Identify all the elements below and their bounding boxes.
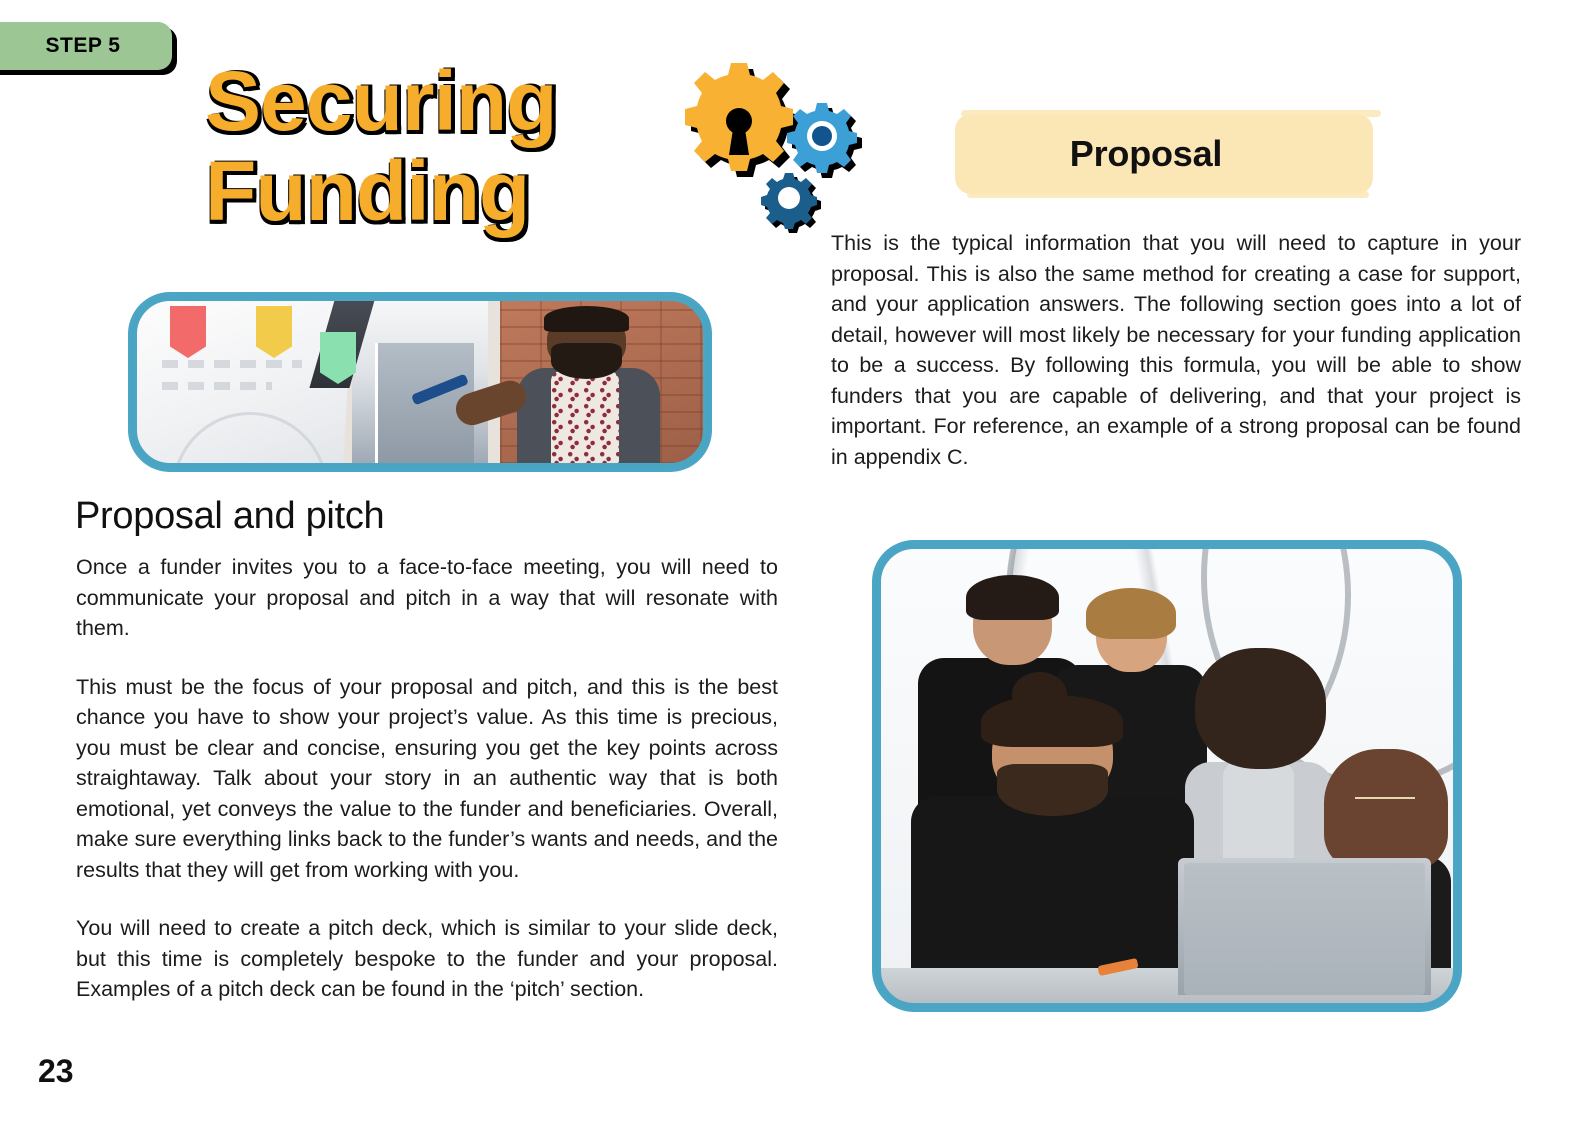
left-column-body: Once a funder invites you to a face-to-f… xyxy=(76,552,778,1005)
gears-illustration xyxy=(645,55,880,255)
page-title: Securing Funding xyxy=(205,62,635,232)
person-front-bun xyxy=(926,685,1179,1004)
intro-paragraph: This is the typical information that you… xyxy=(831,228,1521,472)
body-paragraph-2: This must be the focus of your proposal … xyxy=(76,672,778,886)
whiteboard-writing xyxy=(162,360,302,368)
whiteboard-photo xyxy=(128,292,712,472)
body-paragraph-1: Once a funder invites you to a face-to-f… xyxy=(76,552,778,644)
team-photo xyxy=(872,540,1462,1012)
laptop xyxy=(1178,858,1431,995)
presenter-person xyxy=(500,303,670,464)
whiteboard-photo-image xyxy=(136,300,704,464)
body-paragraph-3: You will need to create a pitch deck, wh… xyxy=(76,913,778,1005)
page-number: 23 xyxy=(38,1053,74,1090)
team-photo-image xyxy=(880,548,1454,1004)
page-title-line-1: Securing xyxy=(205,62,635,142)
proposal-banner-label: Proposal xyxy=(1070,133,1222,175)
section-heading: Proposal and pitch xyxy=(75,495,384,538)
whiteboard-writing xyxy=(162,382,272,390)
page-title-line-2: Funding xyxy=(205,152,635,232)
proposal-banner: Proposal xyxy=(955,114,1373,194)
step-tab-label: STEP 5 xyxy=(46,34,121,58)
step-tab: STEP 5 xyxy=(0,22,172,70)
